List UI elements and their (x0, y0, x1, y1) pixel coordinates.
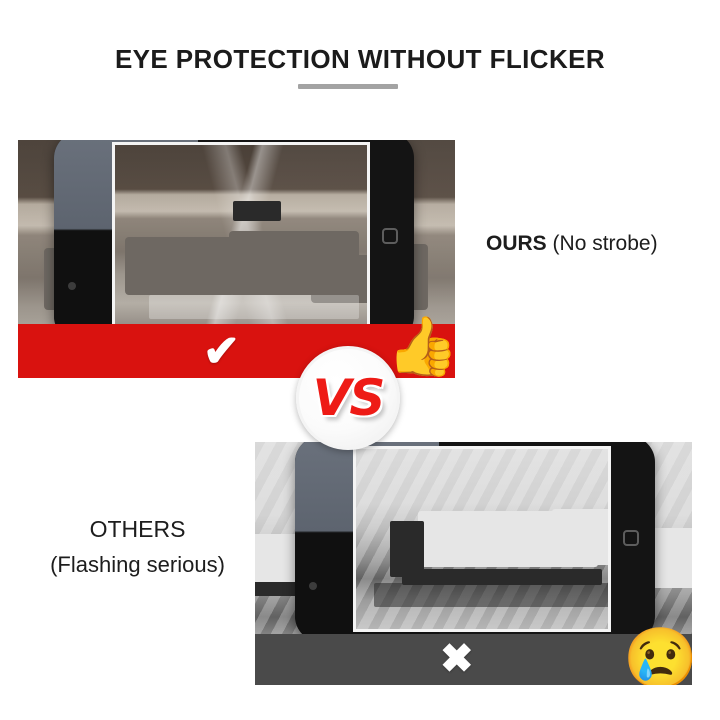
vs-label: VS (313, 369, 384, 427)
phone-home-button[interactable] (382, 228, 398, 244)
phone-camera-icon-others (309, 582, 317, 590)
vs-badge: VS (296, 346, 400, 450)
panel-ours: ✔ 👍 (18, 140, 455, 378)
phone-device-others (295, 442, 655, 642)
phone-device-ours (54, 140, 414, 342)
screen-image-others (356, 449, 608, 629)
screen-floor-shadow (374, 583, 611, 607)
label-others: OTHERS (Flashing serious) (30, 512, 245, 582)
promo-graphic: EYE PROTECTION WITHOUT FLICKER (0, 0, 720, 720)
cross-icon: ✖ (440, 639, 474, 679)
phone-screen-others (353, 446, 611, 632)
label-others-strong: OTHERS (90, 516, 186, 542)
phone-screen-ours (112, 142, 370, 332)
phone-home-button-others[interactable] (623, 530, 639, 546)
screen-image-ours (115, 145, 367, 329)
screen-rug (149, 295, 359, 319)
screen-sofa-grey-2 (552, 509, 611, 565)
screen-shelf-decor (233, 201, 281, 221)
label-ours-light: (No strobe) (553, 232, 658, 255)
thumbs-up-emoji: 👍 (387, 318, 455, 376)
label-others-light: (Flashing serious) (30, 548, 245, 582)
phone-camera-icon (68, 282, 76, 290)
title-divider (298, 84, 398, 89)
page-title: EYE PROTECTION WITHOUT FLICKER (0, 44, 720, 75)
label-ours: OURS (No strobe) (486, 232, 658, 256)
label-ours-strong: OURS (486, 232, 547, 255)
check-icon: ✔ (203, 330, 240, 374)
crying-emoji: 😢 (623, 629, 692, 685)
screen-sofa-left (125, 237, 235, 295)
panel-others: ✖ 😢 (255, 442, 692, 685)
